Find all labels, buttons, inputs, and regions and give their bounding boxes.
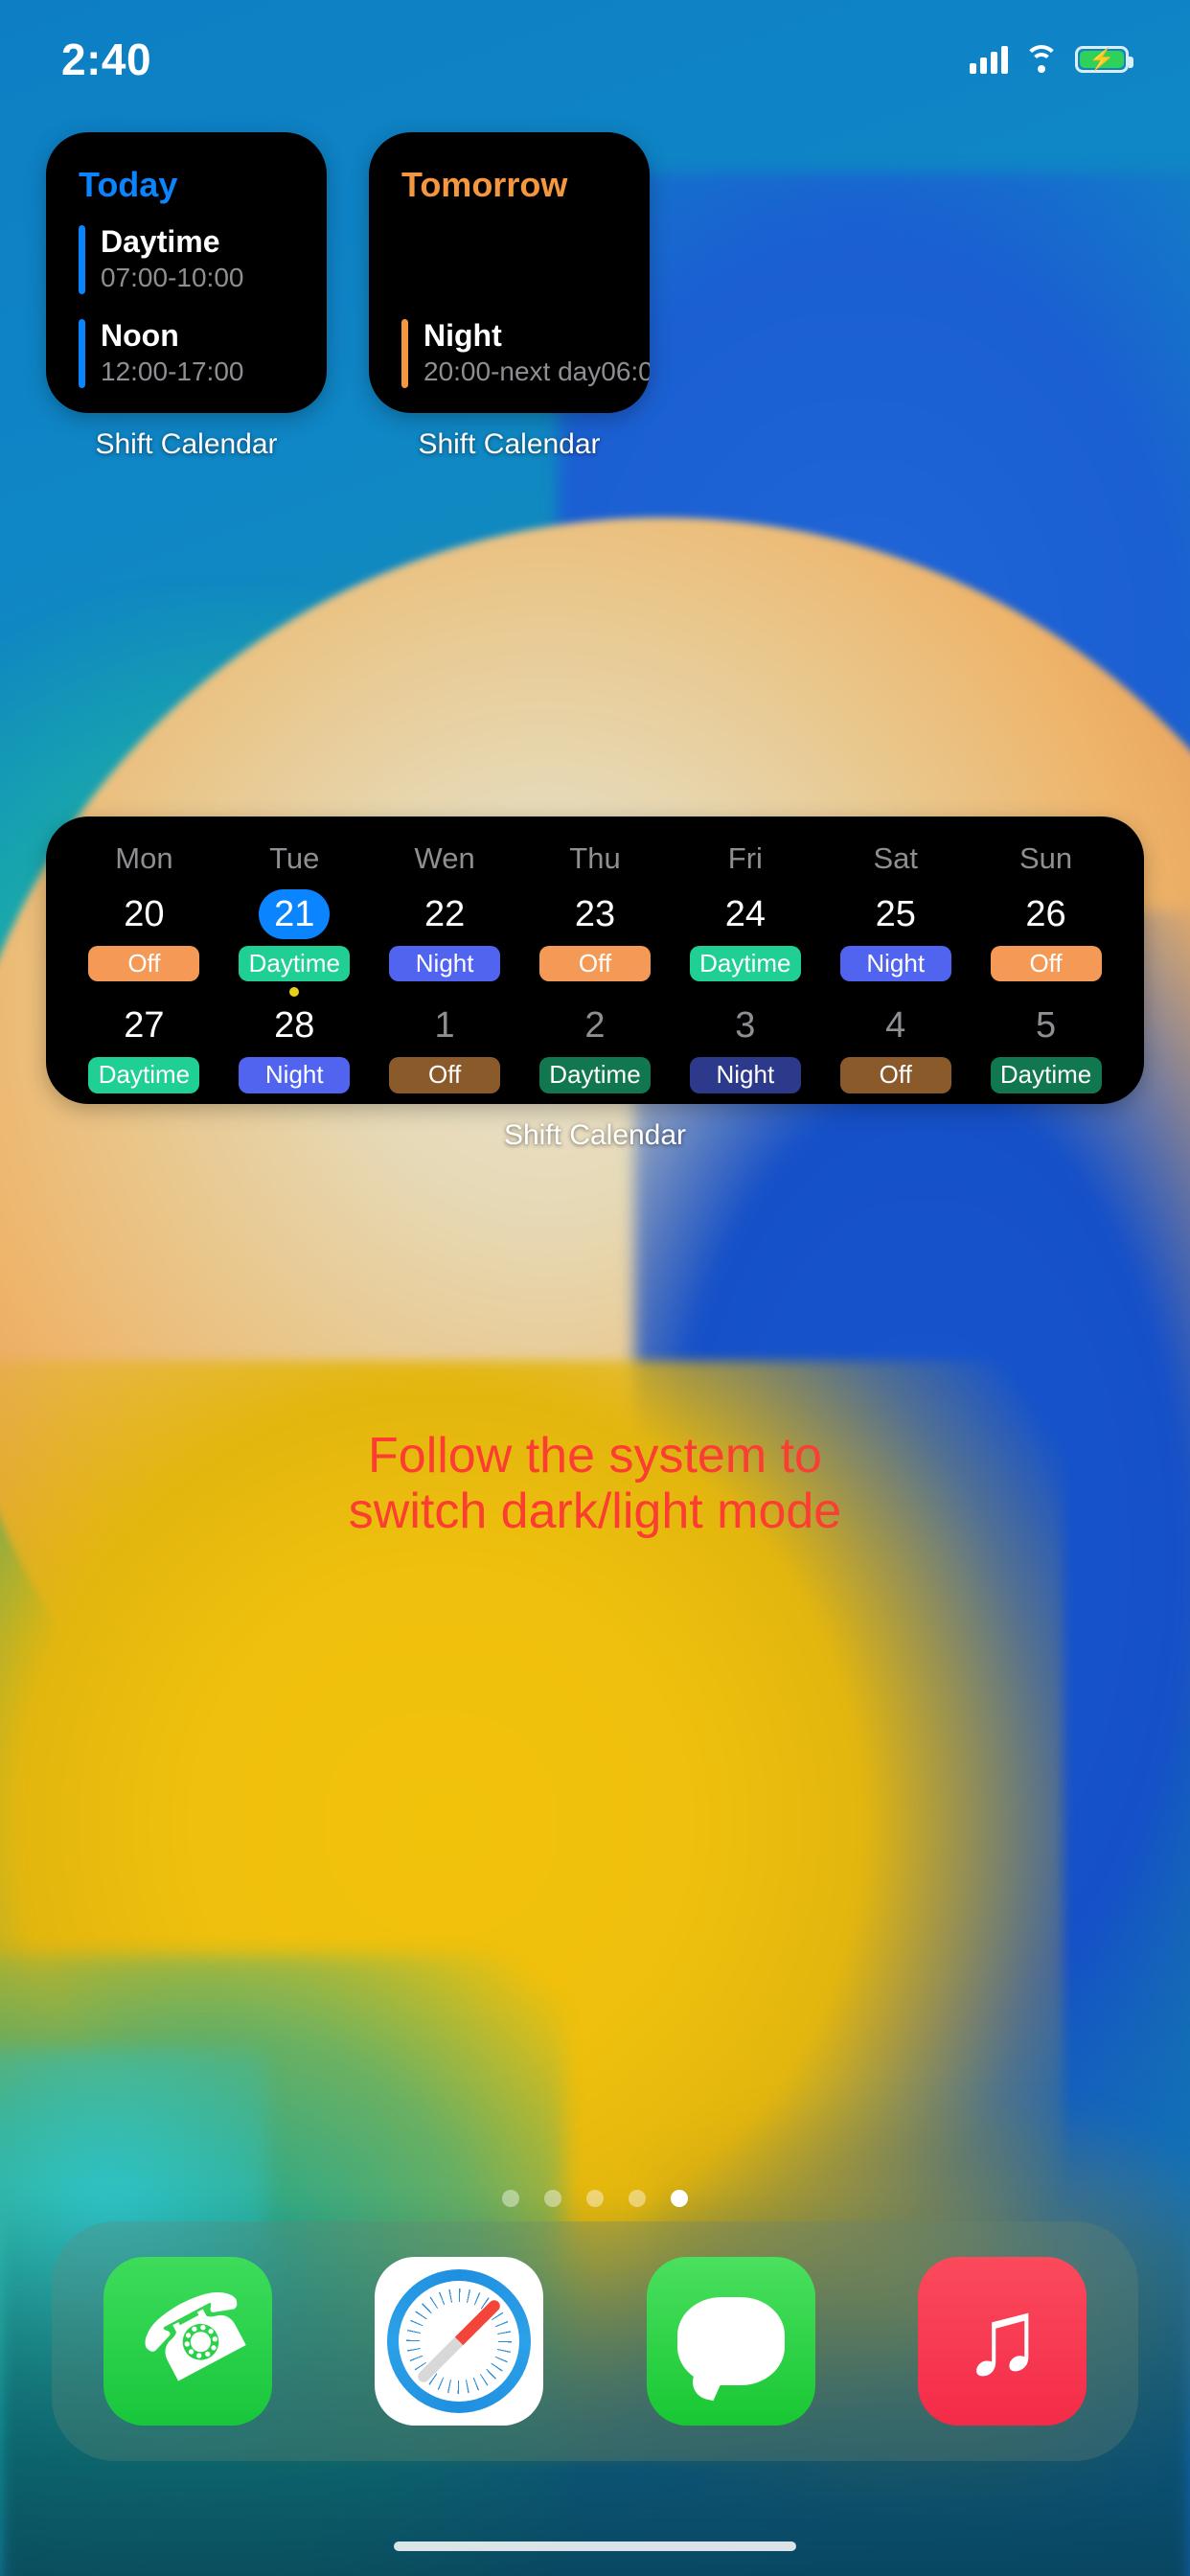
note-line-2: switch dark/light mode (0, 1483, 1190, 1539)
day-header-tue: Tue (219, 841, 370, 889)
calendar-day-cell[interactable]: 2 Daytime (520, 1000, 671, 1092)
shift-color-bar (401, 319, 408, 388)
shift-pill: Off (991, 946, 1102, 981)
day-number: 24 (710, 889, 781, 939)
calendar-day-headers: Mon Tue Wen Thu Fri Sat Sun (69, 841, 1121, 889)
calendar-day-cell[interactable]: 25 Night (820, 889, 971, 997)
day-number: 27 (108, 1000, 179, 1050)
day-number: 23 (560, 889, 630, 939)
widget-tomorrow-title: Tomorrow (401, 165, 650, 205)
shift-entry: Daytime 07:00-10:00 (79, 225, 308, 294)
shift-name: Daytime (101, 225, 243, 259)
dock-app-messages[interactable] (647, 2257, 815, 2426)
day-number: 25 (860, 889, 931, 939)
dock: ☎ ♫ (52, 2221, 1138, 2461)
widget-today-wrapper: Today Daytime 07:00-10:00 Noon 12:00- (46, 132, 327, 461)
widget-today[interactable]: Today Daytime 07:00-10:00 Noon 12:00- (46, 132, 327, 413)
shift-pill: Off (840, 1057, 951, 1092)
home-screen: Today Daytime 07:00-10:00 Noon 12:00- (0, 0, 1190, 2576)
shift-pill: Off (389, 1057, 500, 1092)
calendar-day-cell[interactable]: 28 Night (219, 1000, 370, 1092)
calendar-day-cell[interactable]: 4 Off (820, 1000, 971, 1092)
day-number: 20 (108, 889, 179, 939)
day-number: 22 (409, 889, 480, 939)
cellular-signal-icon (970, 45, 1008, 74)
dock-app-music[interactable]: ♫ (918, 2257, 1087, 2426)
calendar-day-cell[interactable]: 1 Off (370, 1000, 520, 1092)
calendar-day-cell[interactable]: 23 Off (520, 889, 671, 997)
shift-pill: Off (88, 946, 199, 981)
widget-row-small: Today Daytime 07:00-10:00 Noon 12:00- (46, 132, 650, 461)
shift-pill: Daytime (539, 1057, 651, 1092)
shift-entry: Night 20:00-next day06:00 (401, 319, 630, 388)
message-bubble-icon (677, 2297, 785, 2385)
widget-row-calendar: Mon Tue Wen Thu Fri Sat Sun 20 Off (46, 816, 1144, 1152)
day-number: 4 (860, 1000, 931, 1050)
shift-pill: Off (539, 946, 651, 981)
shift-pill: Night (239, 1057, 350, 1092)
day-number-today: 21 (259, 889, 330, 939)
shift-time: 07:00-10:00 (101, 261, 243, 294)
day-header-sat: Sat (820, 841, 971, 889)
page-dot-5-active[interactable] (671, 2190, 688, 2207)
page-indicator[interactable] (0, 2190, 1190, 2207)
shift-time: 12:00-17:00 (101, 355, 243, 388)
shift-pill: Night (840, 946, 951, 981)
shift-pill: Daytime (239, 946, 350, 981)
widget-today-shift-list: Daytime 07:00-10:00 Noon 12:00-17:00 (79, 200, 308, 388)
day-number: 28 (259, 1000, 330, 1050)
calendar-week-row: 20 Off 21 Daytime 22 Night (69, 889, 1121, 997)
note-line-1: Follow the system to (0, 1428, 1190, 1483)
calendar-day-cell[interactable]: 20 Off (69, 889, 219, 997)
calendar-day-cell[interactable]: 27 Daytime (69, 1000, 219, 1092)
day-header-fri: Fri (670, 841, 820, 889)
shift-pill: Daytime (88, 1057, 199, 1092)
dock-app-safari[interactable] (375, 2257, 543, 2426)
shift-pill: Night (690, 1057, 801, 1092)
widget-calendar-caption: Shift Calendar (46, 1119, 1144, 1152)
status-bar: 2:40 ⚡ (0, 0, 1190, 105)
calendar-day-cell[interactable]: 22 Night (370, 889, 520, 997)
shift-color-bar (79, 319, 85, 388)
event-marker-dot (289, 987, 299, 997)
widget-tomorrow-wrapper: Tomorrow Night 20:00-next day06:00 Shift… (369, 132, 650, 461)
calendar-day-cell[interactable]: 24 Daytime (670, 889, 820, 997)
charging-bolt-icon: ⚡ (1078, 49, 1126, 70)
note-text: Follow the system to switch dark/light m… (0, 1428, 1190, 1539)
day-number: 3 (710, 1000, 781, 1050)
shift-time: 20:00-next day06:00 (423, 355, 650, 388)
day-header-wen: Wen (370, 841, 520, 889)
page-dot-1[interactable] (502, 2190, 519, 2207)
shift-pill: Daytime (991, 1057, 1102, 1092)
calendar-day-cell[interactable]: 21 Daytime (219, 889, 370, 997)
widget-calendar-wrapper: Mon Tue Wen Thu Fri Sat Sun 20 Off (46, 816, 1144, 1152)
widget-shift-calendar[interactable]: Mon Tue Wen Thu Fri Sat Sun 20 Off (46, 816, 1144, 1104)
page-dot-4[interactable] (629, 2190, 646, 2207)
day-number: 26 (1011, 889, 1082, 939)
home-indicator[interactable] (394, 2541, 796, 2551)
shift-color-bar (79, 225, 85, 294)
phone-icon: ☎ (126, 2279, 250, 2403)
day-number: 5 (1011, 1000, 1082, 1050)
day-number: 1 (409, 1000, 480, 1050)
day-header-mon: Mon (69, 841, 219, 889)
shift-entry: Noon 12:00-17:00 (79, 319, 308, 388)
shift-pill: Night (389, 946, 500, 981)
page-dot-2[interactable] (544, 2190, 561, 2207)
shift-pill: Daytime (690, 946, 801, 981)
page-dot-3[interactable] (586, 2190, 604, 2207)
day-header-sun: Sun (971, 841, 1121, 889)
compass-icon (387, 2269, 531, 2413)
calendar-day-cell[interactable]: 5 Daytime (971, 1000, 1121, 1092)
widget-today-caption: Shift Calendar (46, 428, 327, 461)
widget-tomorrow-shift-list: Night 20:00-next day06:00 (401, 294, 630, 388)
calendar-day-cell[interactable]: 26 Off (971, 889, 1121, 997)
widget-tomorrow-caption: Shift Calendar (369, 428, 650, 461)
shift-name: Noon (101, 319, 243, 353)
day-header-thu: Thu (520, 841, 671, 889)
music-note-icon: ♫ (962, 2284, 1042, 2391)
day-number: 2 (560, 1000, 630, 1050)
status-clock: 2:40 (61, 34, 151, 85)
calendar-week-row: 27 Daytime 28 Night 1 Off 2 Daytime (69, 1000, 1121, 1092)
widget-tomorrow[interactable]: Tomorrow Night 20:00-next day06:00 (369, 132, 650, 413)
dock-app-phone[interactable]: ☎ (103, 2257, 272, 2426)
status-indicators: ⚡ (970, 45, 1129, 74)
calendar-day-cell[interactable]: 3 Night (670, 1000, 820, 1092)
battery-charging-icon: ⚡ (1075, 46, 1129, 73)
wifi-icon (1023, 45, 1060, 74)
shift-name: Night (423, 319, 650, 353)
